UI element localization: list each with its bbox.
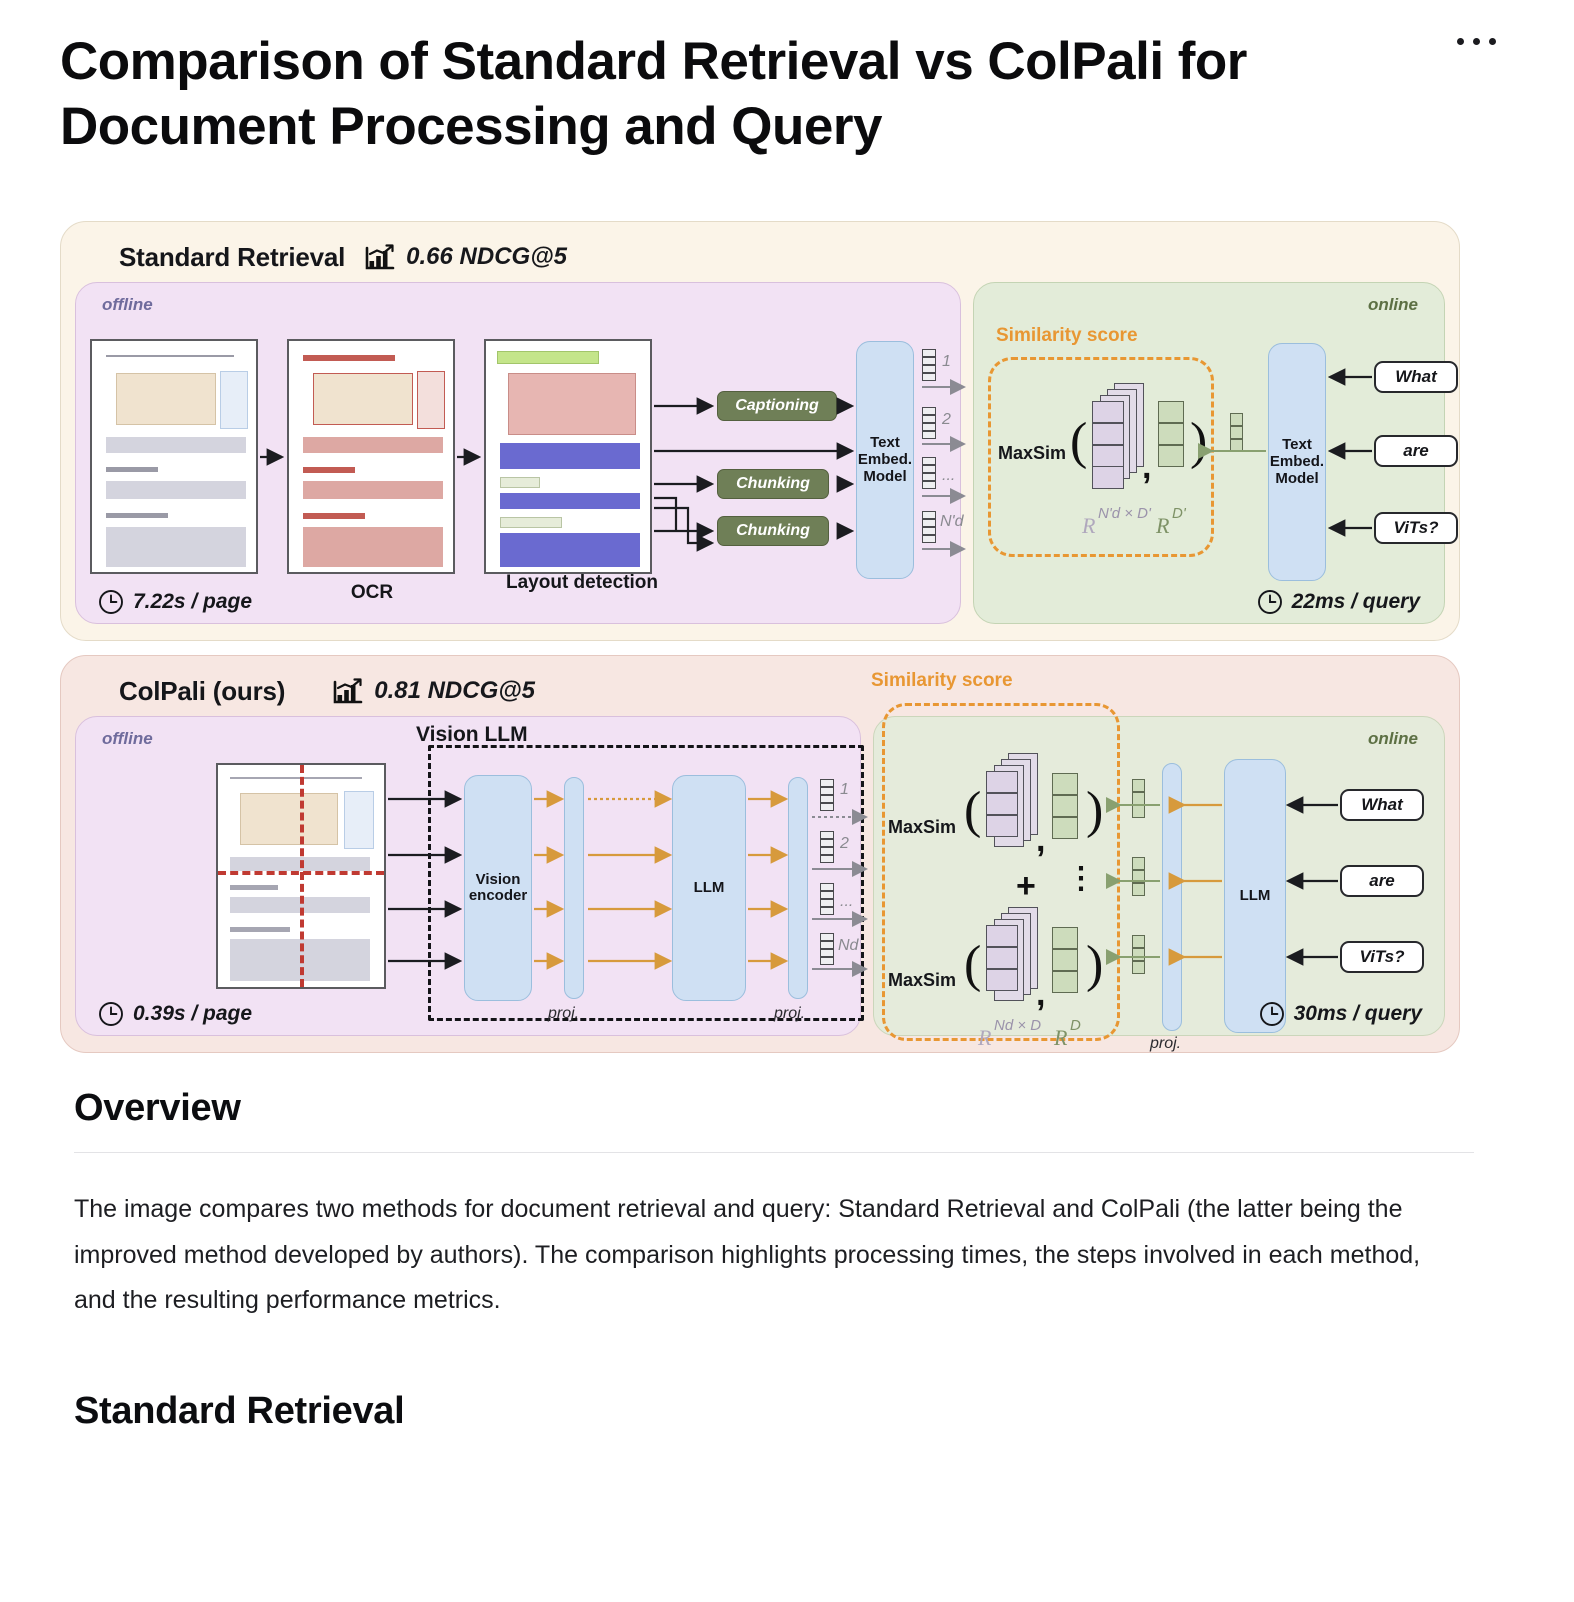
kebab-dot (1457, 38, 1464, 45)
maxsim-operator-colpali-2: MaxSim (888, 970, 956, 991)
maxsim-operator-colpali-1: MaxSim (888, 817, 956, 838)
document-thumbnail-raw (90, 339, 258, 574)
bar-chart-icon (333, 678, 363, 704)
open-paren-colpali-2: ( (964, 939, 981, 991)
colpali-offline-panel: offline Vision LLM (75, 716, 861, 1036)
doc-dim-colpali: Nd × D (994, 1017, 1041, 1034)
plus-operator: + (1016, 867, 1036, 906)
document-header: Comparison of Standard Retrieval vs ColP… (0, 0, 1574, 159)
colpali-metric-group: 0.81 NDCG@5 (333, 677, 535, 705)
standard-panels-row: offline (75, 282, 1445, 624)
proj-block-online (1162, 763, 1182, 1031)
op-chunking-1[interactable]: Chunking (717, 469, 829, 499)
query-token-vits-standard[interactable]: ViTs? (1374, 512, 1458, 544)
overview-paragraph: The image compares two methods for docum… (74, 1187, 1444, 1324)
colpali-token-label-3: ... (840, 893, 853, 911)
open-paren-colpali-1: ( (964, 785, 981, 837)
standard-online-panel: online Similarity score MaxSim ( (973, 282, 1445, 624)
query-token-are-standard[interactable]: are (1374, 435, 1458, 467)
open-paren-standard: ( (1070, 416, 1087, 468)
colpali-header: ColPali (ours) 0.81 NDCG@5 Similarity sc… (75, 670, 1445, 716)
vision-encoder-block: Vision encoder (464, 775, 532, 1001)
document-thumbnail-colpali (216, 763, 386, 989)
colpali-online-timing: 30ms / query (1259, 1001, 1422, 1027)
query-vector-colpali-1 (1052, 773, 1078, 839)
kebab-dot (1489, 38, 1496, 45)
clock-icon (98, 589, 124, 615)
query-embedding-standard (1230, 413, 1243, 452)
colpali-online-timing-label: 30ms / query (1294, 1002, 1422, 1026)
proj-block-2 (788, 777, 808, 999)
standard-online-timing: 22ms / query (1257, 589, 1420, 615)
space-symbol-query-standard: R (1156, 513, 1169, 539)
clock-icon (1257, 589, 1283, 615)
doc-token-label-4: N'd (940, 513, 964, 531)
query-vector-colpali-2 (1052, 927, 1078, 993)
online-tag-standard: online (1368, 295, 1418, 315)
query-token-what-colpali[interactable]: What (1340, 789, 1424, 821)
vertical-ellipsis: ⋮ (1066, 861, 1096, 896)
query-dim-colpali: D (1070, 1017, 1081, 1034)
doc-token-label-2: 2 (942, 411, 951, 429)
llm-block: LLM (672, 775, 746, 1001)
method-name-standard: Standard Retrieval (119, 242, 345, 273)
similarity-score-label-standard: Similarity score (996, 325, 1138, 347)
close-paren-standard: ) (1190, 416, 1207, 468)
comparison-figure: Standard Retrieval 0.66 NDCG@5 (60, 221, 1460, 1053)
colpali-token-3 (820, 883, 834, 915)
proj-label-1: proj. (548, 1005, 579, 1023)
section-divider (74, 1152, 1474, 1153)
close-paren-colpali-1: ) (1086, 785, 1103, 837)
doc-token-4 (922, 511, 936, 543)
proj-label-online: proj. (1150, 1035, 1181, 1053)
colpali-online-panel: online MaxSim ( , (873, 716, 1445, 1036)
standard-online-timing-label: 22ms / query (1292, 590, 1420, 614)
doc-token-3 (922, 457, 936, 489)
doc-token-2 (922, 407, 936, 439)
method-name-colpali: ColPali (ours) (119, 676, 285, 707)
stage-label-layout: Layout detection (506, 573, 632, 594)
query-dim-standard: D' (1172, 505, 1186, 522)
colpali-token-4 (820, 933, 834, 965)
colpali-token-2 (820, 831, 834, 863)
llm-block-online: LLM (1224, 759, 1286, 1033)
colpali-card: ColPali (ours) 0.81 NDCG@5 Similarity sc… (60, 655, 1460, 1053)
colpali-token-label-4: Nd (838, 937, 858, 955)
colpali-token-label-2: 2 (840, 835, 849, 853)
standard-retrieval-card: Standard Retrieval 0.66 NDCG@5 (60, 221, 1460, 641)
standard-retrieval-header: Standard Retrieval 0.66 NDCG@5 (75, 236, 1445, 282)
offline-tag-colpali: offline (102, 729, 153, 749)
space-symbol-doc-colpali: R (978, 1025, 991, 1051)
online-tag-colpali: online (1368, 729, 1418, 749)
more-options-icon[interactable] (1457, 38, 1496, 45)
vision-llm-title: Vision LLM (416, 723, 528, 746)
query-embedding-colpali-3 (1132, 935, 1145, 974)
standard-metric-group: 0.66 NDCG@5 (365, 243, 567, 271)
clock-icon (1259, 1001, 1285, 1027)
standard-offline-timing: 7.22s / page (98, 589, 252, 615)
close-paren-colpali-2: ) (1086, 939, 1103, 991)
overview-section: Overview The image compares two methods … (74, 1087, 1474, 1324)
section-heading-overview: Overview (74, 1087, 1474, 1130)
bar-chart-icon (365, 244, 395, 270)
query-embedding-colpali-2 (1132, 857, 1145, 896)
text-embed-model-offline: Text Embed. Model (856, 341, 914, 579)
document-thumbnail-ocr (287, 339, 455, 574)
space-symbol-doc-standard: R (1082, 513, 1095, 539)
stage-label-ocr: OCR (312, 583, 432, 604)
maxsim-operator-standard: MaxSim (998, 443, 1066, 464)
clock-icon (98, 1001, 124, 1027)
doc-token-label-1: 1 (942, 353, 951, 371)
doc-token-1 (922, 349, 936, 381)
colpali-token-1 (820, 779, 834, 811)
query-token-vits-colpali[interactable]: ViTs? (1340, 941, 1424, 973)
section-heading-standard-retrieval: Standard Retrieval (74, 1390, 1474, 1433)
kebab-dot (1473, 38, 1480, 45)
colpali-offline-timing: 0.39s / page (98, 1001, 252, 1027)
document-page: Comparison of Standard Retrieval vs ColP… (0, 0, 1574, 1602)
text-embed-model-online: Text Embed. Model (1268, 343, 1326, 581)
similarity-score-label-colpali: Similarity score (871, 670, 1013, 692)
query-token-are-colpali[interactable]: are (1340, 865, 1424, 897)
colpali-metric-value: 0.81 NDCG@5 (374, 677, 535, 705)
op-captioning[interactable]: Captioning (717, 391, 837, 421)
proj-label-2: proj. (774, 1005, 805, 1023)
proj-block-1 (564, 777, 584, 999)
colpali-token-label-1: 1 (840, 781, 849, 799)
comma-colpali-2: , (1036, 975, 1045, 1014)
standard-offline-panel: offline (75, 282, 961, 624)
standard-metric-value: 0.66 NDCG@5 (406, 243, 567, 271)
offline-tag-standard: offline (102, 295, 153, 315)
doc-token-label-3: ... (942, 467, 955, 485)
page-title: Comparison of Standard Retrieval vs ColP… (60, 30, 1390, 159)
colpali-panels-row: offline Vision LLM (75, 716, 1445, 1036)
document-thumbnail-layout (484, 339, 652, 574)
query-vector-standard (1158, 401, 1184, 467)
doc-dim-standard: N'd × D' (1098, 505, 1151, 522)
comma-standard: , (1142, 448, 1151, 487)
query-token-what-standard[interactable]: What (1374, 361, 1458, 393)
op-chunking-2[interactable]: Chunking (717, 516, 829, 546)
colpali-offline-timing-label: 0.39s / page (133, 1002, 252, 1026)
standard-offline-timing-label: 7.22s / page (133, 590, 252, 614)
standard-retrieval-section: Standard Retrieval (74, 1390, 1474, 1433)
space-symbol-query-colpali: R (1054, 1025, 1067, 1051)
comma-colpali-1: , (1036, 821, 1045, 860)
query-embedding-colpali-1 (1132, 779, 1145, 818)
